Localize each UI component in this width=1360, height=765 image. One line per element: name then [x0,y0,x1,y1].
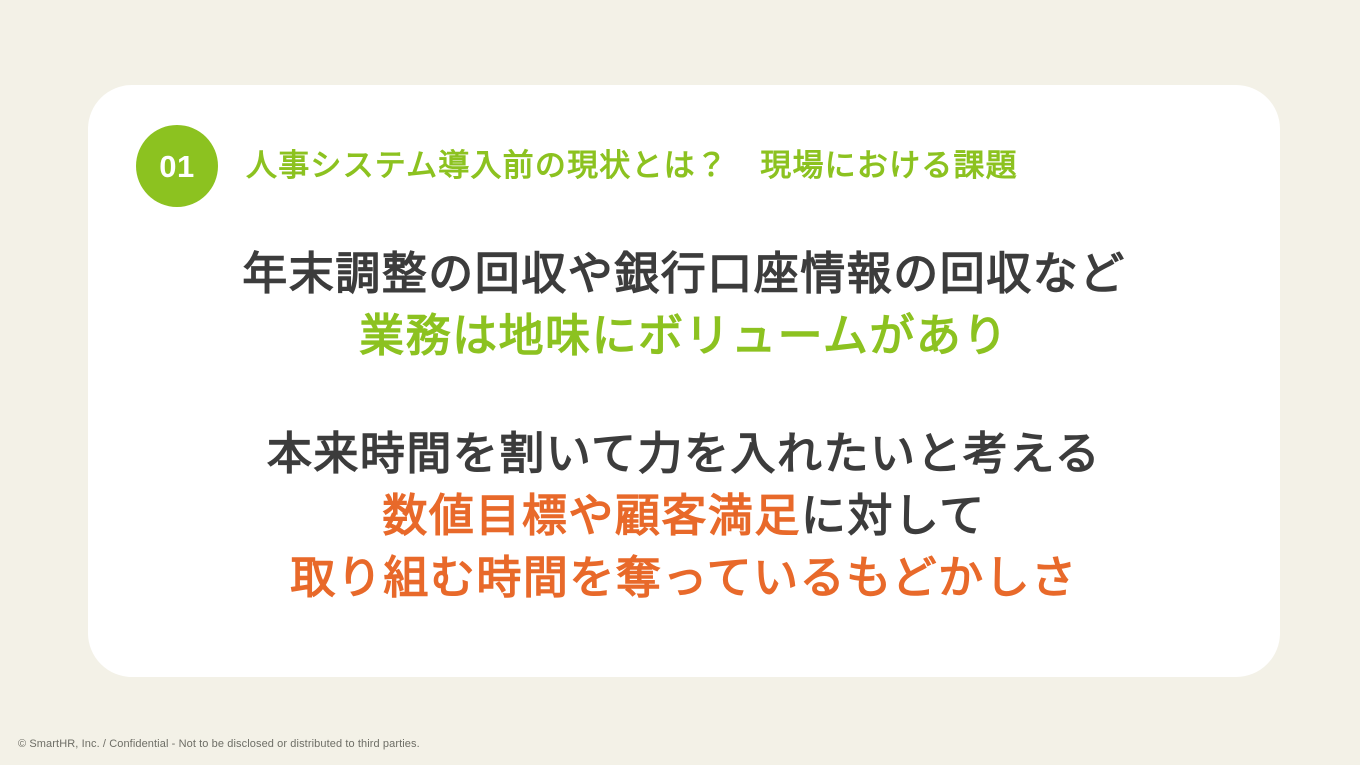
slide-canvas: 01 人事システム導入前の現状とは？ 現場における課題 年末調整の回収や銀行口座… [0,0,1360,765]
section-number-label: 01 [159,151,194,182]
text-segment-dark: 年末調整の回収や銀行口座情報の回収など [242,248,1126,299]
body-text-area: 年末調整の回収や銀行口座情報の回収など業務は地味にボリュームがあり本来時間を割い… [88,243,1280,609]
slide-header: 01 人事システム導入前の現状とは？ 現場における課題 [136,125,1018,207]
text-line: 本来時間を割いて力を入れたいと考える [267,423,1101,485]
section-title: 人事システム導入前の現状とは？ 現場における課題 [246,147,1018,184]
text-segment-orange: 数値目標や顧客満足 [382,490,801,541]
content-card: 01 人事システム導入前の現状とは？ 現場における課題 年末調整の回収や銀行口座… [88,85,1280,677]
text-line: 数値目標や顧客満足に対して [382,485,985,547]
text-block: 年末調整の回収や銀行口座情報の回収など業務は地味にボリュームがあり [88,243,1280,367]
text-segment-orange: 取り組む時間を奪っているもどかしさ [290,552,1077,603]
text-line: 取り組む時間を奪っているもどかしさ [290,547,1077,609]
text-line: 年末調整の回収や銀行口座情報の回収など [242,243,1126,305]
text-segment-green: 業務は地味にボリュームがあり [359,310,1009,361]
text-segment-dark: に対して [801,490,986,541]
section-number-badge: 01 [136,125,218,207]
text-block: 本来時間を割いて力を入れたいと考える数値目標や顧客満足に対して取り組む時間を奪っ… [88,423,1280,609]
text-segment-dark: 本来時間を割いて力を入れたいと考える [267,428,1101,479]
footer-copyright: © SmartHR, Inc. / Confidential - Not to … [18,737,420,751]
text-line: 業務は地味にボリュームがあり [359,305,1009,367]
